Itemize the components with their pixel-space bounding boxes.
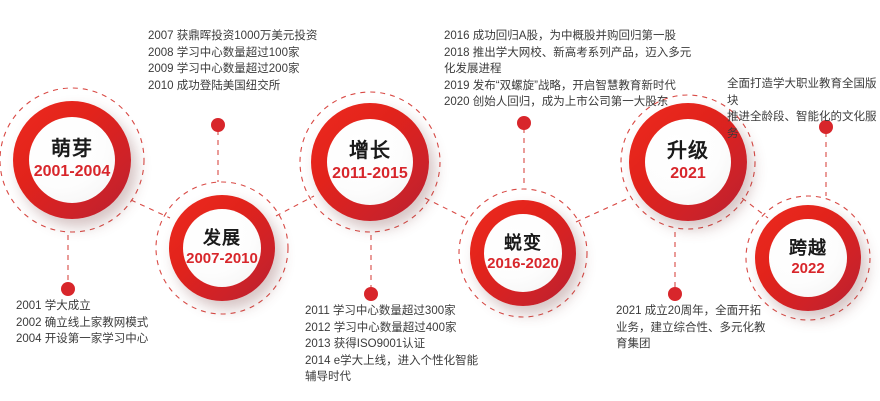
milestone-title: 蜕变	[504, 234, 542, 253]
timeline-infographic: 萌芽 2001-2004 发展 2007-2010 增长 2011-2015 蜕…	[0, 0, 880, 401]
milestone-node-kuayue[interactable]: 跨越 2022	[755, 205, 861, 311]
milestone-node-fazhan[interactable]: 发展 2007-2010	[169, 195, 275, 301]
milestone-years: 2007-2010	[186, 251, 258, 268]
milestone-title: 升级	[667, 141, 709, 162]
note-2011-2015: 2011 学习中心数量超过300家 2012 学习中心数量超过400家 2013…	[305, 303, 478, 386]
milestone-node-mengya[interactable]: 萌芽 2001-2004	[13, 101, 131, 219]
milestone-node-zengzhang[interactable]: 增长 2011-2015	[311, 103, 429, 221]
note-2001-2004: 2001 学大成立 2002 确立线上家教网模式 2004 开设第一家学习中心	[16, 298, 148, 348]
milestone-inner-fazhan: 发展 2007-2010	[183, 209, 261, 287]
connector-2-3	[276, 196, 314, 216]
stem-dot-2	[211, 118, 225, 132]
milestone-years: 2022	[791, 261, 824, 278]
milestone-node-tuibian[interactable]: 蜕变 2016-2020	[470, 200, 576, 306]
milestone-inner-kuayue: 跨越 2022	[769, 219, 847, 297]
stem-dot-5	[668, 287, 682, 301]
milestone-inner-mengya: 萌芽 2001-2004	[29, 117, 115, 203]
milestone-inner-shengji: 升级 2021	[645, 119, 731, 205]
note-2021: 2021 成立20周年，全面开拓 业务，建立综合性、多元化教 育集团	[616, 303, 766, 353]
stem-dot-3	[364, 287, 378, 301]
milestone-title: 萌芽	[51, 139, 93, 160]
note-2022: 全面打造学大职业教育全国版块 推进全龄段、智能化的文化服务	[727, 76, 880, 142]
connector-5-6	[742, 198, 768, 218]
milestone-title: 跨越	[789, 239, 827, 258]
connector-1-2	[131, 200, 170, 218]
milestone-inner-zengzhang: 增长 2011-2015	[327, 119, 413, 205]
note-2016-2020: 2016 成功回归A股，为中概股并购回归第一股 2018 推出学大网校、新高考系…	[444, 28, 691, 111]
milestone-title: 发展	[203, 229, 241, 248]
milestone-years: 2021	[670, 165, 706, 183]
milestone-title: 增长	[349, 141, 391, 162]
stem-dot-1	[61, 282, 75, 296]
connector-4-5	[576, 198, 629, 222]
connector-3-4	[425, 198, 469, 220]
milestone-inner-tuibian: 蜕变 2016-2020	[484, 214, 562, 292]
milestone-years: 2001-2004	[34, 163, 111, 181]
note-2007-2010: 2007 获鼎晖投资1000万美元投资 2008 学习中心数量超过100家 20…	[148, 28, 317, 94]
milestone-years: 2016-2020	[487, 256, 559, 273]
milestone-years: 2011-2015	[332, 165, 408, 183]
stem-dot-4	[517, 116, 531, 130]
